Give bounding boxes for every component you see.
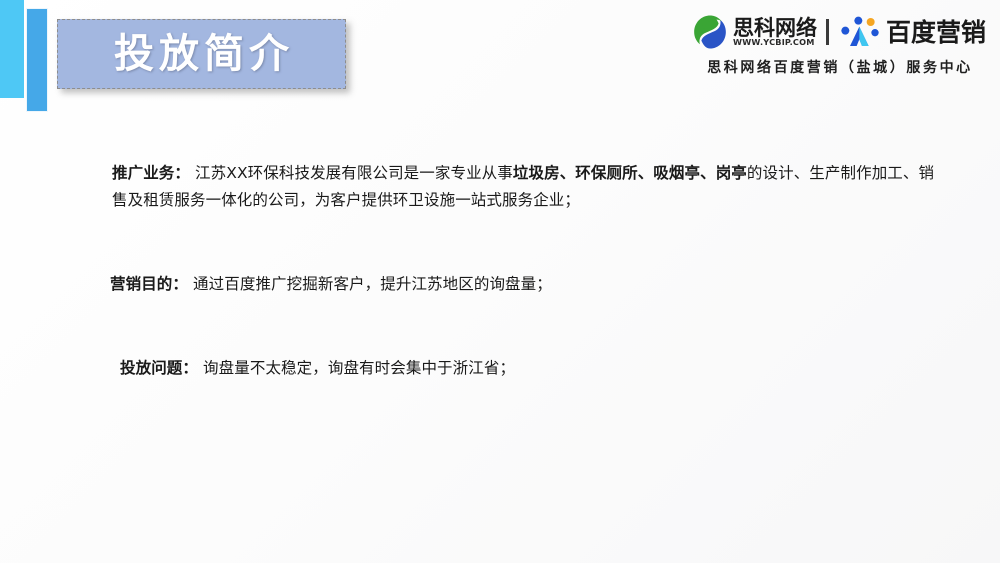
paragraph-emphasis: 垃圾房、环保厕所、吸烟亭、岗亭 [513, 164, 747, 182]
paragraph-label: 营销目的： [110, 275, 188, 293]
paragraph-delivery-problem: 投放问题： 询盘量不太稳定，询盘有时会集中于浙江省； [0, 355, 1000, 382]
paragraph-label: 投放问题： [120, 359, 198, 377]
slide-canvas: 投放简介 思科网络 WWW.YCBIP.COM [0, 0, 1000, 563]
sike-url: WWW.YCBIP.COM [733, 39, 819, 48]
sike-name: 思科网络 [733, 17, 817, 39]
paragraph-text: 询盘量不太稳定，询盘有时会集中于浙江省； [198, 359, 515, 377]
accent-bar-blue [26, 8, 48, 112]
title-banner: 投放简介 [57, 19, 346, 89]
service-center-subtitle: 思科网络百度营销（盐城）服务中心 [686, 57, 992, 77]
page-title: 投放简介 [109, 34, 294, 74]
body-copy: 推广业务： 江苏XX环保科技发展有限公司是一家专业从事垃圾房、环保厕所、吸烟亭、… [0, 160, 1000, 382]
sike-s-circle-logo-icon [692, 14, 728, 50]
baidu-name: 百度营销 [886, 20, 986, 45]
logo-divider [826, 19, 829, 45]
logo-row: 思科网络 WWW.YCBIP.COM 百度营销 [686, 10, 992, 54]
paragraph-text: 通过百度推广挖掘新客户，提升江苏地区的询盘量； [188, 275, 552, 293]
brand-sike: 思科网络 WWW.YCBIP.COM [692, 14, 817, 50]
paragraph-text: 江苏XX环保科技发展有限公司是一家专业从事 [190, 164, 513, 182]
baidu-paw-logo-icon [840, 15, 880, 49]
paragraph-marketing-goal: 营销目的： 通过百度推广挖掘新客户，提升江苏地区的询盘量； [0, 271, 1000, 298]
header-logo-lockup: 思科网络 WWW.YCBIP.COM 百度营销 思科网络百度营销（盐城）服务中心 [686, 10, 992, 77]
sike-wordmark: 思科网络 WWW.YCBIP.COM [733, 17, 817, 48]
paragraph-promotion-business: 推广业务： 江苏XX环保科技发展有限公司是一家专业从事垃圾房、环保厕所、吸烟亭、… [0, 160, 1000, 214]
brand-baidu: 百度营销 [840, 15, 986, 49]
accent-bar-cyan [0, 0, 24, 98]
paragraph-label: 推广业务： [112, 164, 190, 182]
